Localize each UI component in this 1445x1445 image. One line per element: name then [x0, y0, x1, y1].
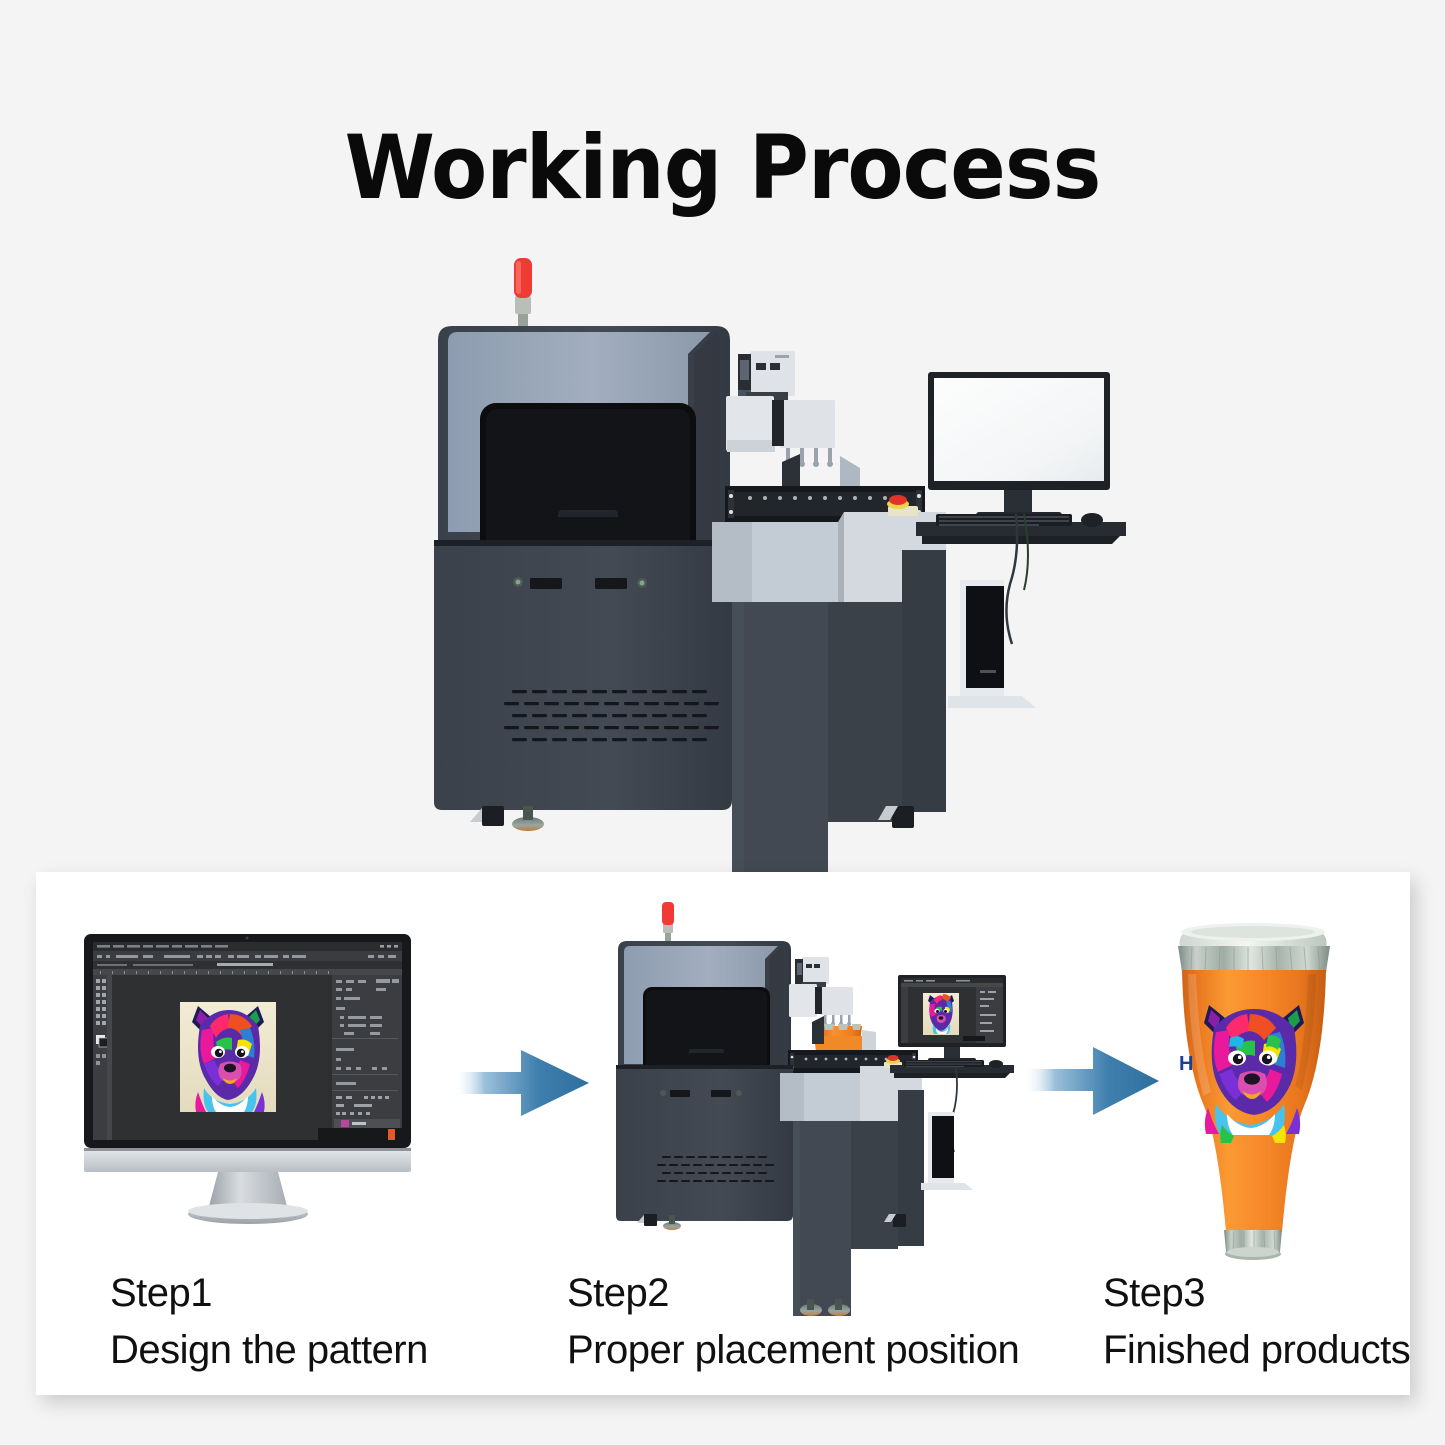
step-2-image	[608, 898, 1023, 1318]
operator-monitor	[928, 372, 1110, 519]
app-menu-bar	[97, 945, 228, 948]
status-accent	[388, 1129, 395, 1140]
step-3-image: H	[1158, 918, 1368, 1288]
arrow-step1-to-step2	[455, 1040, 591, 1126]
tumbler-top-band	[1178, 946, 1330, 972]
print-head-assembly	[789, 957, 853, 1026]
step-2-description: Proper placement position	[567, 1328, 1019, 1373]
tumbler-side-text: H	[1179, 1053, 1193, 1075]
door-handle	[558, 510, 618, 517]
page-title: Working Process	[51, 122, 1395, 214]
pop-art-chihuahua-artwork	[923, 993, 959, 1035]
step-3-label: Step3 Finished products	[1103, 1272, 1410, 1373]
print-head-assembly	[726, 351, 835, 467]
keyboard-tray	[890, 1060, 1014, 1078]
step-1-description: Design the pattern	[110, 1328, 428, 1373]
operator-mouse	[989, 1060, 1003, 1068]
document-tab-label	[217, 963, 273, 966]
step-1-label: Step1 Design the pattern	[110, 1272, 428, 1373]
pop-art-chihuahua-artwork	[180, 1002, 276, 1112]
step-1-number: Step1	[110, 1272, 428, 1314]
hero-machine-image	[420, 250, 1120, 900]
tower-computer	[921, 1112, 973, 1190]
arrow-step2-to-step3	[1025, 1035, 1161, 1125]
step-1-image	[78, 930, 423, 1240]
operator-monitor	[898, 975, 1006, 1062]
step-3-description: Finished products	[1103, 1328, 1410, 1373]
tower-computer	[948, 580, 1036, 708]
step-3-number: Step3	[1103, 1272, 1410, 1314]
step-2-number: Step2	[567, 1272, 1019, 1314]
operator-mouse	[1081, 513, 1103, 527]
step-2-label: Step2 Proper placement position	[567, 1272, 1019, 1373]
keyboard-tray	[916, 513, 1126, 544]
